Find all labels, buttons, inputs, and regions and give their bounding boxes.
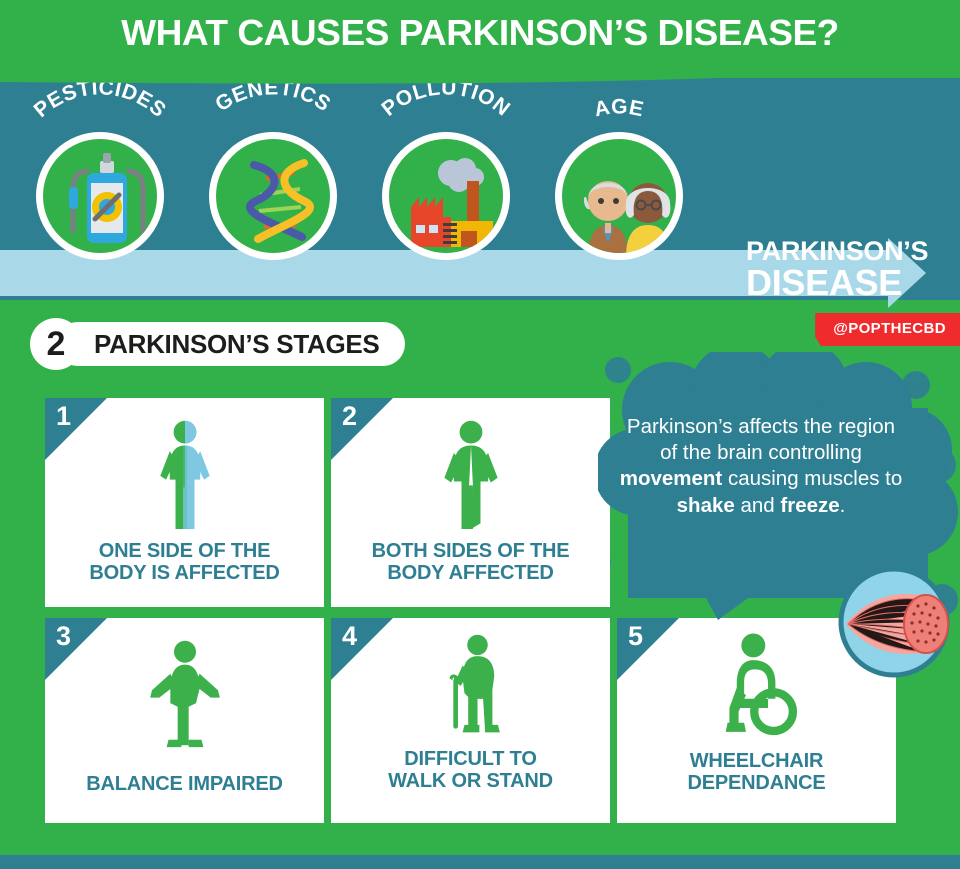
stage-label-5-line-1: WHEELCHAIR	[623, 750, 890, 772]
stage-label-2: BOTH SIDES OF THE BODY AFFECTED	[337, 540, 604, 585]
wheelchair-figure-icon	[711, 630, 803, 740]
stage-icon-2	[331, 414, 610, 532]
infographic-page: PESTICIDES	[0, 0, 960, 869]
stage-label-4-line-2: WALK OR STAND	[337, 770, 604, 792]
stage-icon-1	[45, 414, 324, 532]
stage-label-3: BALANCE IMPAIRED	[51, 773, 318, 795]
stage-label-5-line-2: DEPENDANCE	[623, 772, 890, 794]
stage-number-5: 5	[628, 621, 643, 652]
stage-icon-3	[45, 632, 324, 754]
stage-number-4: 4	[342, 621, 357, 652]
cause-circle-genetics	[209, 132, 337, 260]
stage-number-2: 2	[342, 401, 357, 432]
section-title: PARKINSON’S STAGES	[56, 322, 405, 366]
section-number-badge: 2	[30, 318, 82, 370]
walking-figure-half-affected-icon	[147, 416, 223, 530]
stage-label-1-line-2: BODY IS AFFECTED	[51, 562, 318, 584]
causes-result-label: PARKINSON’S DISEASE	[746, 238, 928, 301]
stage-label-2-line-2: BODY AFFECTED	[337, 562, 604, 584]
stage-label-4-line-1: DIFFICULT TO	[337, 748, 604, 770]
stage-label-2-line-1: BOTH SIDES OF THE	[337, 540, 604, 562]
pesticide-sprayer-icon	[43, 139, 164, 260]
stage-label-1: ONE SIDE OF THE BODY IS AFFECTED	[51, 540, 318, 585]
section-header: 2 PARKINSON’S STAGES	[30, 318, 405, 370]
stage-card-1[interactable]: 1 ONE SIDE OF THE BODY IS AFFECTED	[45, 398, 324, 607]
title-wave-divider	[0, 62, 960, 88]
watermark-badge: @POPTHECBD	[815, 313, 960, 346]
stage-icon-4	[331, 628, 610, 740]
stage-number-1: 1	[56, 401, 71, 432]
stage-card-2[interactable]: 2 BOTH SIDES OF THE BODY AFFECTED	[331, 398, 610, 607]
walking-figure-icon	[433, 416, 509, 530]
stage-card-3[interactable]: 3 BALANCE IMPAIRED	[45, 618, 324, 823]
cause-label-age: AGE	[592, 95, 646, 121]
svg-text:AGE: AGE	[592, 95, 646, 121]
factory-smoke-icon	[389, 139, 510, 260]
result-line-1: PARKINSON’S	[746, 238, 928, 265]
bottom-strip	[0, 855, 960, 869]
stage-label-1-line-1: ONE SIDE OF THE	[51, 540, 318, 562]
cause-circle-age	[555, 132, 683, 260]
standing-figure-arms-out-icon	[141, 634, 229, 752]
figure-with-cane-icon	[431, 631, 511, 737]
causes-section: PESTICIDES	[0, 78, 960, 300]
result-line-2: DISEASE	[746, 265, 928, 301]
stage-label-4: DIFFICULT TO WALK OR STAND	[337, 748, 604, 793]
stage-number-3: 3	[56, 621, 71, 652]
stage-label-3-line-1: BALANCE IMPAIRED	[51, 773, 318, 795]
elderly-couple-icon	[562, 139, 683, 260]
callout-text: Parkinson’s affects the region of the br…	[616, 414, 906, 519]
cause-circle-pollution	[382, 132, 510, 260]
stage-card-4[interactable]: 4 DIFFICULT TO WALK OR STAND	[331, 618, 610, 823]
dna-helix-icon	[216, 139, 337, 260]
muscle-fiber-cross-section-icon	[838, 566, 950, 678]
cause-circle-pesticides	[36, 132, 164, 260]
page-title: WHAT CAUSES PARKINSON’S DISEASE?	[0, 12, 960, 54]
stage-label-5: WHEELCHAIR DEPENDANCE	[623, 750, 890, 795]
